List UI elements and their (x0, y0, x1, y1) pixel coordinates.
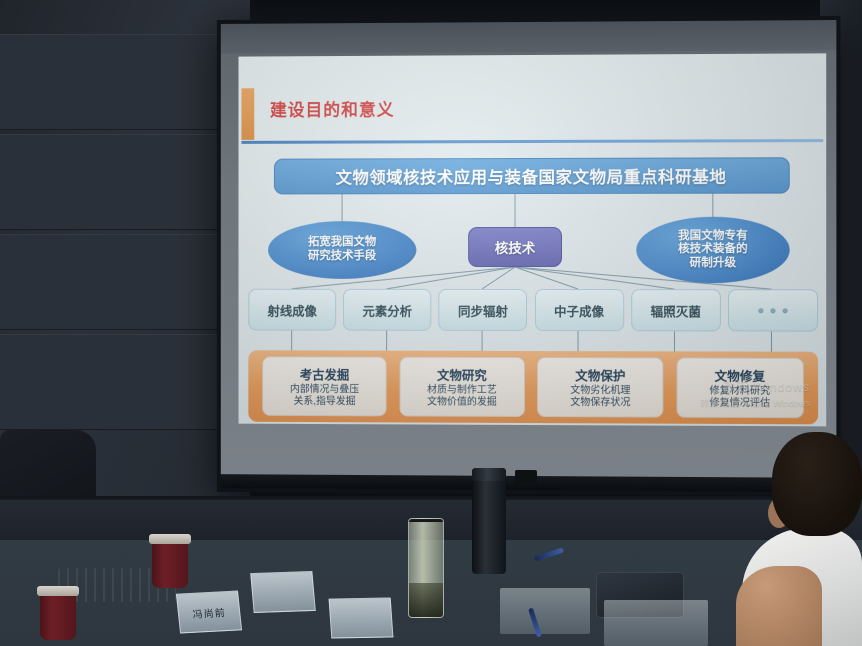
node-label-line2: 研究技术手段 (308, 250, 376, 264)
application-box-archaeological-excavation: 考古发掘 内部情况与叠压 关系,指导发掘 (262, 356, 387, 416)
technique-box-ray-imaging: 射线成像 (248, 289, 336, 331)
screen-surface: 建设目的和意义 (221, 20, 837, 492)
tea-glass-cap (408, 518, 444, 522)
application-line2: 关系,指导发掘 (294, 396, 356, 409)
paper-document (500, 588, 590, 634)
node-label-line3: 研制升级 (690, 257, 736, 271)
name-plate (250, 571, 316, 613)
node-label-line1: 我国文物专有 (678, 229, 748, 243)
wall-panel (0, 334, 230, 430)
application-title: 文物修复 (715, 365, 766, 384)
screen-knob (515, 470, 537, 486)
wall-panel (0, 134, 230, 230)
diagram-node-nuclear-technology: 核技术 (468, 227, 562, 267)
technique-box-synchrotron-radiation: 同步辐射 (439, 289, 528, 331)
paper-cup (40, 592, 76, 640)
application-box-relic-protection: 文物保护 文物劣化机理 文物保存状况 (537, 357, 663, 418)
application-title: 文物研究 (437, 364, 487, 383)
application-line2: 文物价值的发掘 (427, 397, 497, 410)
application-line1: 文物劣化机理 (570, 385, 630, 398)
node-label-line1: 拓宽我国文物 (308, 237, 376, 251)
cup-lid (149, 534, 191, 544)
cup-lid (37, 586, 79, 596)
presentation-slide: 建设目的和意义 (238, 53, 826, 426)
application-line1: 修复材料研究 (710, 385, 771, 398)
ellipsis-dot-icon (783, 308, 788, 313)
technique-box-neutron-imaging: 中子成像 (535, 289, 624, 331)
ellipsis-dot-icon (758, 308, 763, 313)
application-line1: 内部情况与叠压 (290, 384, 359, 397)
application-title: 文物保护 (575, 365, 625, 384)
projection-screen: 建设目的和意义 (217, 16, 841, 496)
diagram-node-broaden-methods: 拓宽我国文物 研究技术手段 (268, 221, 416, 279)
name-plate: 冯尚前 (176, 590, 242, 633)
application-box-relic-research: 文物研究 材质与制作工艺 文物价值的发掘 (399, 357, 524, 417)
diagram-root-node: 文物领域核技术应用与装备国家文物局重点科研基地 (274, 157, 790, 194)
ellipsis-dot-icon (770, 308, 775, 313)
person-arm (736, 566, 822, 646)
screen-top-shadow (221, 20, 837, 54)
technique-box-ellipsis (728, 289, 818, 331)
diagram-node-dedicated-equipment: 我国文物专有 核技术装备的 研制升级 (636, 217, 789, 283)
paper-document (604, 600, 708, 646)
application-line2: 修复情况评估 (710, 398, 771, 411)
wall-panel (0, 234, 230, 330)
wall-panel (0, 34, 230, 130)
tea-leaves (409, 583, 443, 617)
technique-box-irradiation-sterilization: 辐照灭菌 (631, 289, 721, 331)
technique-box-element-analysis: 元素分析 (343, 289, 431, 331)
thermos-cap (472, 468, 506, 481)
person-head (772, 432, 862, 536)
application-line1: 材质与制作工艺 (427, 384, 497, 397)
application-title: 考古发掘 (300, 364, 349, 383)
name-plate (329, 598, 394, 639)
thermos-bottle (472, 478, 506, 574)
conference-room-photo: 建设目的和意义 (0, 0, 862, 646)
tea-glass (408, 518, 444, 618)
technique-row: 射线成像 元素分析 同步辐射 中子成像 辐照灭菌 (248, 289, 818, 332)
paper-cup (152, 540, 188, 588)
application-box-relic-restoration: 文物修复 修复材料研究 修复情况评估 (676, 357, 803, 418)
application-band: 考古发掘 内部情况与叠压 关系,指导发掘 文物研究 材质与制作工艺 文物价值的发… (248, 350, 818, 424)
node-label-line2: 核技术装备的 (678, 243, 748, 257)
application-line2: 文物保存状况 (570, 397, 630, 410)
